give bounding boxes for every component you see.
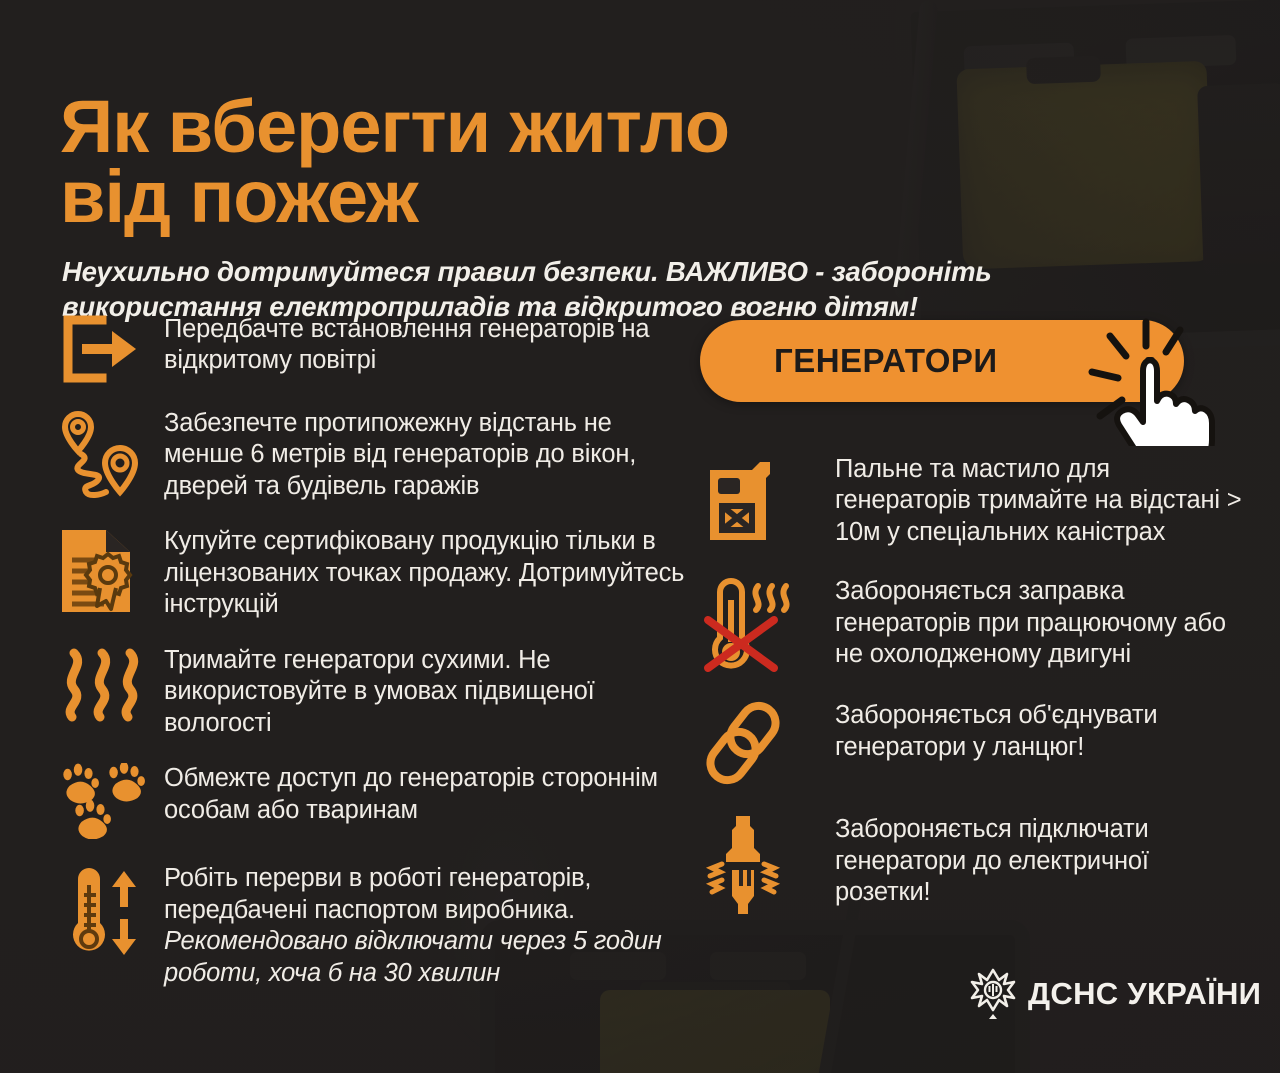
tip-text: Пальне та мастило для генераторів тримай… — [835, 452, 1245, 548]
jerrycan-fuel-icon — [700, 452, 835, 546]
tip-item-no-chaining: Забороняється об'єднувати генератори у л… — [700, 698, 1245, 786]
generator-vent-left — [964, 42, 1075, 76]
hot-thermometer-forbidden-icon — [700, 574, 835, 672]
title-line-2: від пожеж — [60, 162, 960, 232]
tip-item-take-breaks: Робіть перерви в роботі генераторів, пер… — [56, 861, 696, 989]
tip-item-no-outlet-connection: Забороняється підключати генератори до е… — [700, 812, 1245, 918]
tip-text: Забезпечте протипожежну відстань не менш… — [164, 406, 696, 502]
infographic-poster: Як вберегти житло від пожеж Неухильно до… — [0, 0, 1280, 1073]
tip-text-italic: Рекомендовано відключати через 5 годин р… — [164, 926, 696, 989]
generators-button-label: ГЕНЕРАТОРИ — [774, 342, 998, 380]
dsns-maltese-cross-emblem-icon — [970, 968, 1016, 1020]
dsns-logo-text: ДСНС УКРАЇНИ — [1028, 976, 1261, 1012]
chain-link-icon — [700, 698, 835, 786]
generator-side-panel — [1197, 83, 1280, 276]
page-title: Як вберегти житло від пожеж — [60, 92, 960, 233]
humidity-waves-icon — [56, 643, 164, 725]
right-tips-column: Пальне та мастило для генераторів тримай… — [700, 452, 1245, 944]
tip-text: Купуйте сертифіковану продукцію тільки в… — [164, 524, 696, 620]
thermometer-arrows-icon — [56, 861, 164, 963]
tip-text: Забороняється об'єднувати генератори у л… — [835, 698, 1245, 763]
generator-knob-right — [710, 952, 806, 980]
generator-tank-cap — [1026, 56, 1101, 85]
generator-fuel-tank — [956, 61, 1213, 270]
tip-text: Передбачте встановлення генераторів на в… — [164, 312, 696, 377]
tip-item-certified-product: Купуйте сертифіковану продукцію тільки в… — [56, 524, 696, 620]
tip-text: Забороняється заправка генераторів при п… — [835, 574, 1245, 670]
dsns-logo: ДСНС УКРАЇНИ — [970, 968, 1261, 1020]
paw-prints-icon — [56, 761, 164, 839]
tip-item-outdoor-install: Передбачте встановлення генераторів на в… — [56, 312, 696, 384]
tip-text: Тримайте генератори сухими. Не використо… — [164, 643, 696, 739]
generator-vent-right — [1125, 35, 1236, 69]
tip-text: Забороняється підключати генератори до е… — [835, 812, 1245, 908]
tip-item-restrict-access: Обмежте доступ до генераторів стороннім … — [56, 761, 696, 839]
tip-text: Робіть перерви в роботі генераторів, пер… — [164, 861, 696, 989]
tip-text-normal: Робіть перерви в роботі генераторів, пер… — [164, 864, 591, 923]
left-tips-column: Передбачте встановлення генераторів на в… — [56, 312, 696, 1011]
tip-item-fuel-storage: Пальне та мастило для генераторів тримай… — [700, 452, 1245, 548]
hand-pointer-icon — [1060, 316, 1240, 446]
tip-text: Обмежте доступ до генераторів стороннім … — [164, 761, 696, 826]
tip-item-fire-distance: Забезпечте протипожежну відстань не менш… — [56, 406, 696, 502]
tip-item-keep-dry: Тримайте генератори сухими. Не використо… — [56, 643, 696, 739]
route-distance-pins-icon — [56, 406, 164, 500]
spark-plug-icon — [700, 812, 835, 918]
tip-item-no-hot-refuel: Забороняється заправка генераторів при п… — [700, 574, 1245, 672]
certificate-document-icon — [56, 524, 164, 616]
exit-outdoors-icon — [56, 312, 164, 384]
